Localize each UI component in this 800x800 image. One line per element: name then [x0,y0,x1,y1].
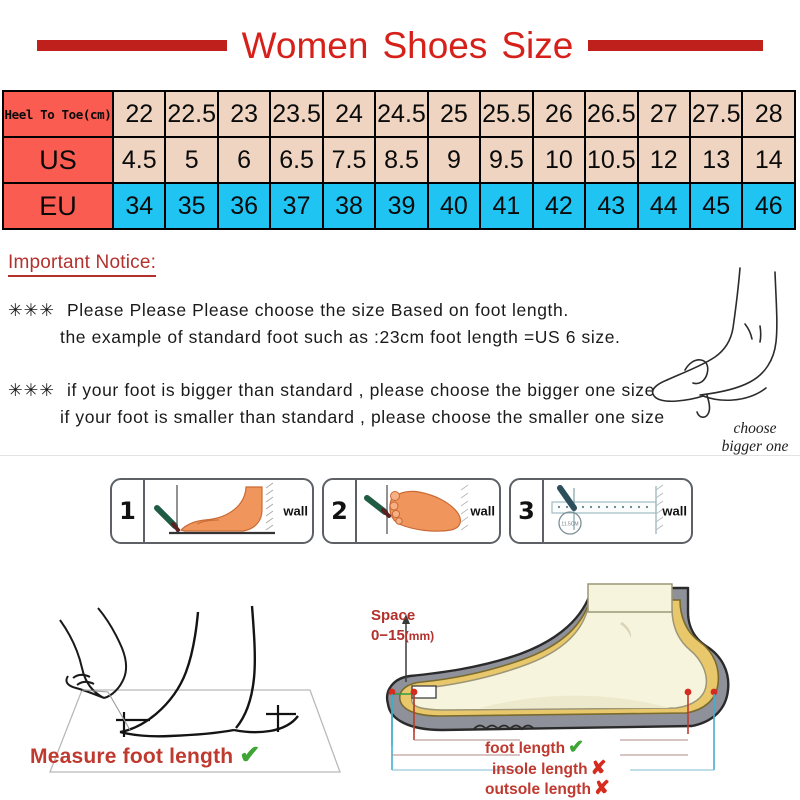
measure-caption-text: Measure foot length [30,745,233,768]
cell-eu-11: 45 [690,183,742,229]
space-label-line-2: 0−15(mm) [371,626,434,646]
notice-block-2: ✳✳✳if your foot is bigger than standard … [8,377,688,431]
space-range-value: 0−15 [371,627,405,644]
step-number-1: 1 [112,480,145,542]
cell-us-10: 12 [638,137,690,183]
cell-eu-2: 36 [218,183,270,229]
choose-caption-line-2: bigger one [700,438,800,456]
page-title: WomenShoesSize [235,27,581,64]
space-label-line-1: Space [371,606,434,626]
title-accent-bar-left [37,40,227,51]
wall-label-1: wall [283,504,308,519]
notice-text-3: if your foot is bigger than standard , p… [67,380,655,400]
page-title-row: WomenShoesSize [0,22,800,68]
cell-us-5: 8.5 [375,137,427,183]
cell-eu-3: 37 [270,183,322,229]
check-icon-foot-length: ✔ [568,737,584,758]
cell-us-4: 7.5 [323,137,375,183]
space-gap-label: Space 0−15(mm) [371,606,434,647]
cell-cm-12: 28 [742,91,795,137]
cell-eu-4: 38 [323,183,375,229]
green-check-icon: ✔ [239,741,260,769]
insole-length-legend-row: insole length✘ [485,759,610,780]
section-divider [0,455,800,456]
step-number-2: 2 [324,480,357,542]
table-row-us: US 4.5 5 6 6.5 7.5 8.5 9 9.5 10 10.5 12 … [3,137,795,183]
wall-label-3: wall [662,504,687,519]
cross-icon-insole-length: ✘ [591,758,607,779]
cell-us-3: 6.5 [270,137,322,183]
cell-us-9: 10.5 [585,137,637,183]
cell-us-6: 9 [428,137,480,183]
space-unit: (mm) [405,629,434,643]
cell-us-1: 5 [165,137,217,183]
stars-marker-1: ✳✳✳ [8,300,55,320]
step-number-3: 3 [511,480,544,542]
cell-us-11: 13 [690,137,742,183]
cell-cm-1: 22.5 [165,91,217,137]
title-accent-bar-right [588,40,763,51]
step-illustration-3: 11.5CM wall [544,480,691,542]
foot-side-view-icon [645,262,795,437]
cell-eu-1: 35 [165,183,217,229]
choose-caption-line-1: choose [700,420,800,438]
outsole-length-label: outsole length [485,781,591,798]
table-row-cm: Heel To Toe(cm) 22 22.5 23 23.5 24 24.5 … [3,91,795,137]
cell-eu-5: 39 [375,183,427,229]
step-illustration-2: wall [357,480,499,542]
title-word-1: Women [242,25,369,66]
cell-us-12: 14 [742,137,795,183]
measurement-steps: 1 wall 2 [110,478,680,544]
cell-cm-0: 22 [113,91,165,137]
step-illustration-1: wall [145,480,312,542]
cell-eu-0: 34 [113,183,165,229]
cell-cm-6: 25 [428,91,480,137]
cell-cm-7: 25.5 [480,91,532,137]
cell-eu-10: 44 [638,183,690,229]
cell-cm-11: 27.5 [690,91,742,137]
notice-block-1: ✳✳✳Please Please Please choose the size … [8,297,688,351]
measure-foot-length-caption: Measure foot length✔ [30,740,260,770]
cell-cm-4: 24 [323,91,375,137]
stars-marker-2: ✳✳✳ [8,380,55,400]
title-word-3: Size [501,25,573,66]
step-card-2: 2 wall [322,478,501,544]
size-conversion-table: Heel To Toe(cm) 22 22.5 23 23.5 24 24.5 … [2,90,796,230]
wall-label-2: wall [470,504,495,519]
cell-us-7: 9.5 [480,137,532,183]
notice-heading: Important Notice: [8,252,156,277]
cell-us-2: 6 [218,137,270,183]
choose-bigger-caption: choose bigger one [700,420,800,456]
important-notice-section: Important Notice: ✳✳✳Please Please Pleas… [8,252,688,432]
cell-us-8: 10 [533,137,585,183]
cell-eu-8: 42 [533,183,585,229]
step-card-3: 3 11.5CM [509,478,693,544]
cell-cm-2: 23 [218,91,270,137]
insole-length-label: insole length [492,761,588,778]
cell-cm-8: 26 [533,91,585,137]
ruler-value-text: 11.5CM [561,522,578,528]
notice-line-3: ✳✳✳if your foot is bigger than standard … [8,377,688,404]
outsole-length-legend-row: outsole length✘ [485,779,610,800]
row-label-eu: EU [3,183,113,229]
notice-text-4: if your foot is smaller than standard , … [8,404,688,431]
cell-cm-3: 23.5 [270,91,322,137]
cell-eu-7: 41 [480,183,532,229]
row-label-heel-to-toe: Heel To Toe(cm) [3,91,113,137]
cell-cm-5: 24.5 [375,91,427,137]
title-word-2: Shoes [382,25,487,66]
cell-eu-6: 40 [428,183,480,229]
foot-length-label: foot length [485,740,565,757]
cell-us-0: 4.5 [113,137,165,183]
cell-cm-9: 26.5 [585,91,637,137]
cell-eu-9: 43 [585,183,637,229]
row-label-us: US [3,137,113,183]
notice-text-2: the example of standard foot such as :23… [8,324,688,351]
foot-length-legend-row: foot length✔ [485,738,610,759]
cell-cm-10: 27 [638,91,690,137]
cross-icon-outsole-length: ✘ [594,778,610,799]
notice-line-1: ✳✳✳Please Please Please choose the size … [8,297,688,324]
cell-eu-12: 46 [742,183,795,229]
notice-text-1: Please Please Please choose the size Bas… [67,300,569,320]
length-legend: foot length✔ insole length✘ outsole leng… [485,738,610,800]
table-row-eu: EU 34 35 36 37 38 39 40 41 42 43 44 45 4… [3,183,795,229]
step-card-1: 1 wall [110,478,314,544]
